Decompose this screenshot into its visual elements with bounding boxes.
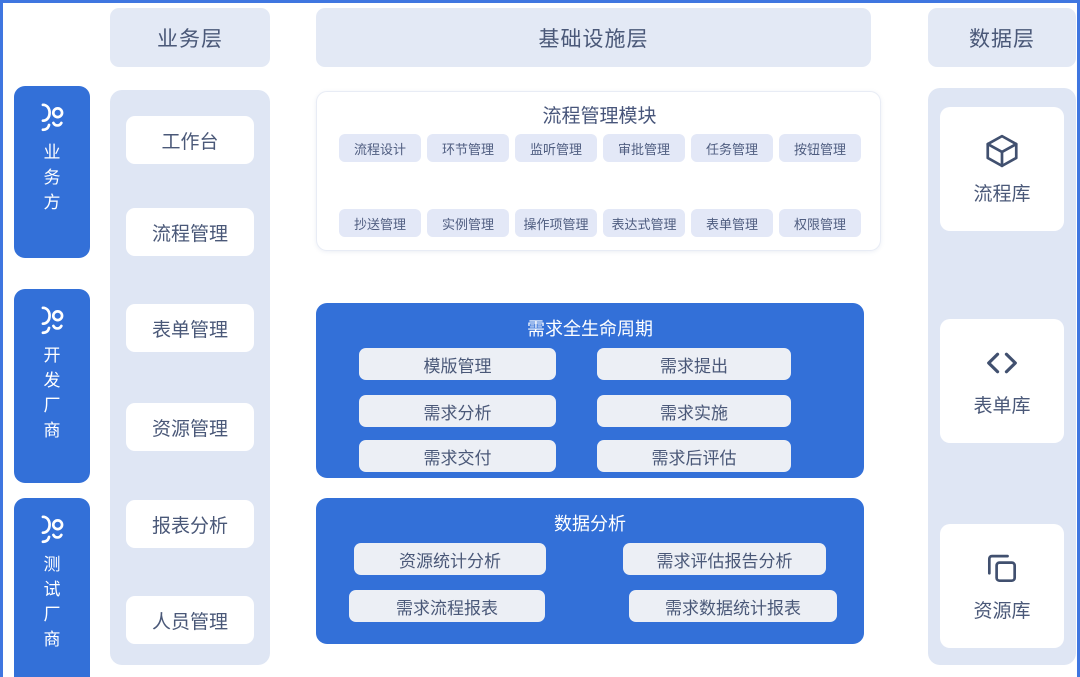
actor-rail: 业务方 开发厂商 <box>14 86 90 666</box>
process-tag[interactable]: 审批管理 <box>603 134 685 162</box>
lifecycle-chip-requirement-analysis[interactable]: 需求分析 <box>359 395 556 427</box>
business-layer-column: 工作台 流程管理 表单管理 资源管理 报表分析 人员管理 <box>110 90 270 665</box>
process-tag[interactable]: 实例管理 <box>427 209 509 237</box>
analysis-chip-resource-statistics[interactable]: 资源统计分析 <box>354 543 546 575</box>
business-item-label: 表单管理 <box>152 315 228 342</box>
process-tag-row-1: 流程设计 环节管理 监听管理 审批管理 任务管理 按钮管理 <box>339 134 861 162</box>
process-tag[interactable]: 流程设计 <box>339 134 421 162</box>
actor-label: 测试厂商 <box>41 552 63 652</box>
analysis-chip-requirement-process-report[interactable]: 需求流程报表 <box>349 590 545 622</box>
business-item-label: 人员管理 <box>152 607 228 634</box>
infrastructure-layer-header: 基础设施层 <box>316 8 871 67</box>
data-layer-header-label: 数据层 <box>969 23 1035 53</box>
process-tag[interactable]: 操作项管理 <box>515 209 597 237</box>
copy-layers-icon <box>983 549 1021 587</box>
users-icon <box>35 303 69 337</box>
business-item-resource-management[interactable]: 资源管理 <box>126 403 254 451</box>
data-card-label: 资源库 <box>973 596 1030 623</box>
business-item-label: 报表分析 <box>152 511 228 538</box>
data-analysis-panel: 数据分析 资源统计分析 需求评估报告分析 需求流程报表 需求数据统计报表 <box>316 498 864 644</box>
business-layer-header-label: 业务层 <box>157 23 223 53</box>
lifecycle-chip-post-requirement-evaluation[interactable]: 需求后评估 <box>597 440 791 472</box>
analysis-chip-requirement-data-statistics-report[interactable]: 需求数据统计报表 <box>629 590 837 622</box>
process-tag[interactable]: 抄送管理 <box>339 209 421 237</box>
process-tag[interactable]: 权限管理 <box>779 209 861 237</box>
lifecycle-chip-requirement-implementation[interactable]: 需求实施 <box>597 395 791 427</box>
actor-label: 业务方 <box>41 140 63 215</box>
cube-icon <box>983 132 1021 170</box>
analysis-chip-requirement-evaluation-report[interactable]: 需求评估报告分析 <box>623 543 826 575</box>
business-item-form-management[interactable]: 表单管理 <box>126 304 254 352</box>
business-item-process-management[interactable]: 流程管理 <box>126 208 254 256</box>
business-layer-header: 业务层 <box>110 8 270 67</box>
process-tag[interactable]: 表单管理 <box>691 209 773 237</box>
lifecycle-panel-title: 需求全生命周期 <box>316 315 864 341</box>
infrastructure-layer-header-label: 基础设施层 <box>539 23 649 53</box>
requirement-lifecycle-panel: 需求全生命周期 模版管理 需求提出 需求分析 需求实施 需求交付 需求后评估 <box>316 303 864 478</box>
data-card-resource-repository[interactable]: 资源库 <box>940 524 1064 648</box>
process-tag[interactable]: 任务管理 <box>691 134 773 162</box>
business-item-workbench[interactable]: 工作台 <box>126 116 254 164</box>
actor-card-tester[interactable]: 测试厂商 <box>14 498 90 677</box>
process-module-title: 流程管理模块 <box>317 100 882 128</box>
data-card-process-repository[interactable]: 流程库 <box>940 107 1064 231</box>
actor-label: 开发厂商 <box>41 343 63 443</box>
business-item-report-analysis[interactable]: 报表分析 <box>126 500 254 548</box>
actor-card-business[interactable]: 业务方 <box>14 86 90 258</box>
architecture-diagram: 业务方 开发厂商 <box>0 0 1080 677</box>
process-tag[interactable]: 环节管理 <box>427 134 509 162</box>
actor-card-developer[interactable]: 开发厂商 <box>14 289 90 483</box>
process-tag[interactable]: 表达式管理 <box>603 209 685 237</box>
business-item-label: 资源管理 <box>152 414 228 441</box>
process-management-module: 流程管理模块 流程设计 环节管理 监听管理 审批管理 任务管理 按钮管理 抄送管… <box>316 91 881 251</box>
process-tag[interactable]: 监听管理 <box>515 134 597 162</box>
users-icon <box>35 512 69 546</box>
business-item-label: 工作台 <box>161 127 218 154</box>
process-tag-row-2: 抄送管理 实例管理 操作项管理 表达式管理 表单管理 权限管理 <box>339 209 861 237</box>
code-brackets-icon <box>983 344 1021 382</box>
business-item-label: 流程管理 <box>152 219 228 246</box>
lifecycle-chip-requirement-proposal[interactable]: 需求提出 <box>597 348 791 380</box>
data-card-form-repository[interactable]: 表单库 <box>940 319 1064 443</box>
analysis-panel-title: 数据分析 <box>316 510 864 536</box>
users-icon <box>35 100 69 134</box>
process-tag[interactable]: 按钮管理 <box>779 134 861 162</box>
lifecycle-chip-template-management[interactable]: 模版管理 <box>359 348 556 380</box>
lifecycle-chip-requirement-delivery[interactable]: 需求交付 <box>359 440 556 472</box>
data-card-label: 表单库 <box>973 391 1030 418</box>
data-layer-header: 数据层 <box>928 8 1076 67</box>
business-item-personnel-management[interactable]: 人员管理 <box>126 596 254 644</box>
data-card-label: 流程库 <box>973 179 1030 206</box>
data-layer-column: 流程库 表单库 资源库 <box>928 88 1076 665</box>
